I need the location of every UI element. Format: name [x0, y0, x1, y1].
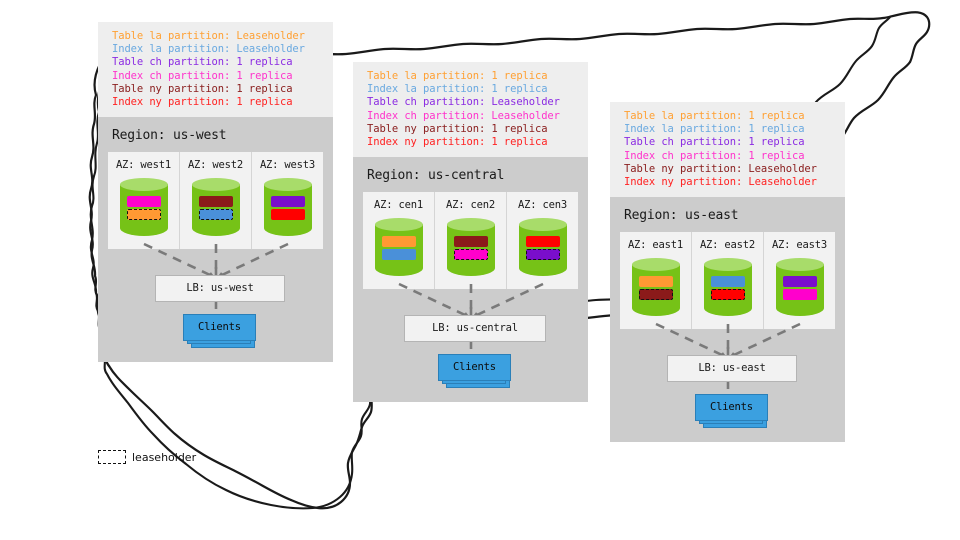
info-line: Table ch partition: 1 replica [112, 56, 323, 69]
database-cylinder[interactable] [519, 218, 567, 280]
region-panel-us-west: Region: us-west AZ: west1 AZ: west2 [98, 117, 333, 362]
region-info-us-west: Table la partition: Leaseholder Index la… [98, 22, 333, 117]
clients-group-us-west: Clients [183, 314, 256, 341]
clients-box[interactable]: Clients [183, 314, 256, 341]
cylinder-top [375, 218, 423, 231]
region-title: Region: us-central [353, 157, 588, 192]
load-balancer-us-west[interactable]: LB: us-west [155, 275, 285, 302]
info-line: Index la partition: 1 replica [624, 123, 835, 136]
info-line: Index la partition: 1 replica [367, 83, 578, 96]
az-panel-cen1[interactable]: AZ: cen1 [363, 192, 435, 289]
replica-segment [127, 196, 161, 207]
database-cylinder[interactable] [704, 258, 752, 320]
info-line: Index ny partition: Leaseholder [624, 176, 835, 189]
replica-segment-leaseholder [127, 209, 161, 220]
az-label: AZ: cen3 [507, 199, 578, 211]
cylinder-top [192, 178, 240, 191]
replica-segment [271, 209, 305, 220]
replica-segment [526, 236, 560, 247]
replica-segment-leaseholder [199, 209, 233, 220]
database-cylinder[interactable] [120, 178, 168, 240]
info-line: Table la partition: 1 replica [367, 70, 578, 83]
replica-segment [199, 196, 233, 207]
region-cluster-us-central: Table la partition: 1 replica Index la p… [353, 62, 588, 402]
database-cylinder[interactable] [192, 178, 240, 240]
database-cylinder[interactable] [375, 218, 423, 280]
legend: leaseholder [98, 450, 196, 464]
load-balancer-us-central[interactable]: LB: us-central [404, 315, 546, 342]
database-cylinder[interactable] [264, 178, 312, 240]
replica-segment-leaseholder [454, 249, 488, 260]
az-panel-east3[interactable]: AZ: east3 [764, 232, 835, 329]
diagram-canvas: Table la partition: Leaseholder Index la… [0, 0, 960, 540]
database-cylinder[interactable] [447, 218, 495, 280]
region-title: Region: us-west [98, 117, 333, 152]
az-label: AZ: cen2 [435, 199, 506, 211]
replica-segment-leaseholder [711, 289, 745, 300]
az-label: AZ: west1 [108, 159, 179, 171]
info-line: Index ny partition: 1 replica [367, 136, 578, 149]
az-label: AZ: cen1 [363, 199, 434, 211]
load-balancer-us-east[interactable]: LB: us-east [667, 355, 797, 382]
legend-label: leaseholder [132, 451, 196, 464]
az-panel-cen2[interactable]: AZ: cen2 [435, 192, 507, 289]
replica-segment [271, 196, 305, 207]
az-label: AZ: west3 [252, 159, 323, 171]
cylinder-top [447, 218, 495, 231]
replica-segment [711, 276, 745, 287]
az-label: AZ: east1 [620, 239, 691, 251]
info-line: Table ch partition: 1 replica [624, 136, 835, 149]
info-line: Table la partition: 1 replica [624, 110, 835, 123]
info-line: Index ch partition: Leaseholder [367, 110, 578, 123]
info-line: Index la partition: Leaseholder [112, 43, 323, 56]
az-strip: AZ: cen1 AZ: cen2 [363, 192, 578, 289]
az-label: AZ: west2 [180, 159, 251, 171]
az-panel-cen3[interactable]: AZ: cen3 [507, 192, 578, 289]
clients-group-us-central: Clients [438, 354, 511, 381]
replica-segment [783, 276, 817, 287]
az-strip: AZ: west1 AZ: west2 [108, 152, 323, 249]
leaseholder-swatch-icon [98, 450, 126, 464]
info-line: Table ch partition: Leaseholder [367, 96, 578, 109]
info-line: Table ny partition: 1 replica [367, 123, 578, 136]
info-line: Index ch partition: 1 replica [112, 70, 323, 83]
region-info-us-east: Table la partition: 1 replica Index la p… [610, 102, 845, 197]
az-strip: AZ: east1 AZ: east2 [620, 232, 835, 329]
info-line: Table ny partition: Leaseholder [624, 163, 835, 176]
replica-segment [783, 289, 817, 300]
info-line: Index ch partition: 1 replica [624, 150, 835, 163]
cylinder-top [264, 178, 312, 191]
info-line: Table ny partition: 1 replica [112, 83, 323, 96]
cylinder-top [120, 178, 168, 191]
az-label: AZ: east2 [692, 239, 763, 251]
az-panel-west2[interactable]: AZ: west2 [180, 152, 252, 249]
replica-segment [454, 236, 488, 247]
database-cylinder[interactable] [632, 258, 680, 320]
replica-segment-leaseholder [639, 289, 673, 300]
cylinder-top [519, 218, 567, 231]
replica-segment-leaseholder [526, 249, 560, 260]
az-panel-east1[interactable]: AZ: east1 [620, 232, 692, 329]
cylinder-top [704, 258, 752, 271]
az-label: AZ: east3 [764, 239, 835, 251]
region-panel-us-central: Region: us-central AZ: cen1 AZ: cen2 [353, 157, 588, 402]
replica-segment [639, 276, 673, 287]
region-cluster-us-west: Table la partition: Leaseholder Index la… [98, 22, 333, 362]
az-panel-west1[interactable]: AZ: west1 [108, 152, 180, 249]
clients-group-us-east: Clients [695, 394, 768, 421]
clients-box[interactable]: Clients [438, 354, 511, 381]
region-panel-us-east: Region: us-east AZ: east1 AZ: east2 [610, 197, 845, 442]
cylinder-top [776, 258, 824, 271]
database-cylinder[interactable] [776, 258, 824, 320]
az-panel-west3[interactable]: AZ: west3 [252, 152, 323, 249]
info-line: Table la partition: Leaseholder [112, 30, 323, 43]
replica-segment [382, 236, 416, 247]
info-line: Index ny partition: 1 replica [112, 96, 323, 109]
replica-segment [382, 249, 416, 260]
region-title: Region: us-east [610, 197, 845, 232]
az-panel-east2[interactable]: AZ: east2 [692, 232, 764, 329]
region-cluster-us-east: Table la partition: 1 replica Index la p… [610, 102, 845, 442]
region-info-us-central: Table la partition: 1 replica Index la p… [353, 62, 588, 157]
clients-box[interactable]: Clients [695, 394, 768, 421]
cylinder-top [632, 258, 680, 271]
